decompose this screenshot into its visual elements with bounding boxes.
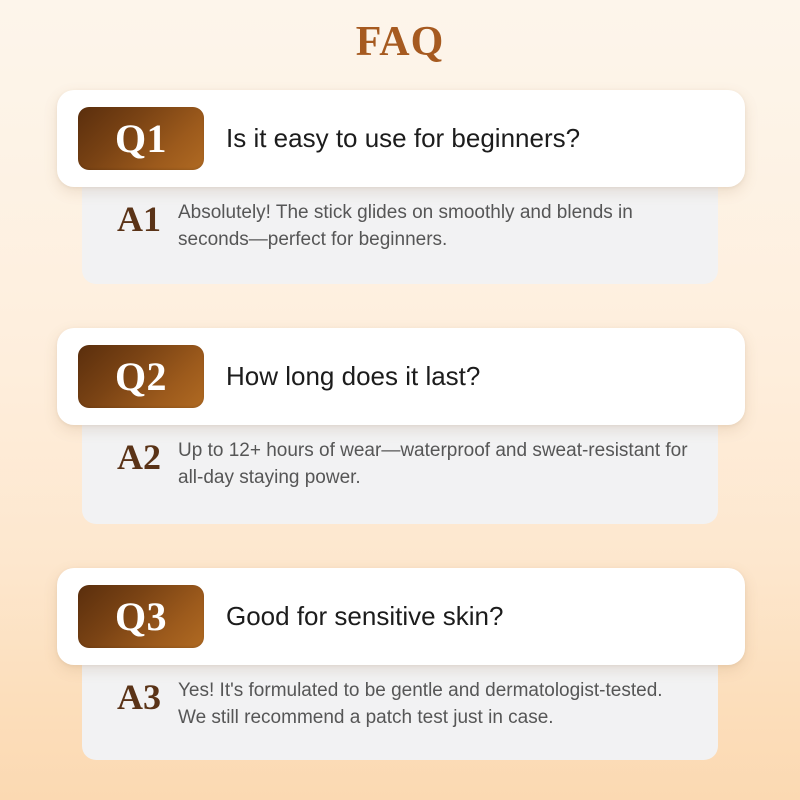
faq-list: Q1 Is it easy to use for beginners? A1 A… xyxy=(0,90,800,760)
page-title: FAQ xyxy=(0,18,800,66)
answer-text: Yes! It's formulated to be gentle and de… xyxy=(178,677,694,732)
question-number-badge: Q3 xyxy=(78,585,204,648)
answer-number-label: A3 xyxy=(100,677,178,715)
question-number-badge: Q2 xyxy=(78,345,204,408)
question-card[interactable]: Q3 Good for sensitive skin? xyxy=(57,568,745,665)
answer-panel: A2 Up to 12+ hours of wear—waterproof an… xyxy=(82,411,718,524)
faq-page: FAQ Q1 Is it easy to use for beginners? … xyxy=(0,0,800,800)
faq-item: Q1 Is it easy to use for beginners? A1 A… xyxy=(0,90,800,284)
faq-item: Q3 Good for sensitive skin? A3 Yes! It's… xyxy=(0,568,800,760)
answer-panel: A3 Yes! It's formulated to be gentle and… xyxy=(82,651,718,760)
answer-text: Absolutely! The stick glides on smoothly… xyxy=(178,199,694,254)
question-number-badge: Q1 xyxy=(78,107,204,170)
question-text: How long does it last? xyxy=(226,361,480,392)
question-card[interactable]: Q2 How long does it last? xyxy=(57,328,745,425)
question-text: Good for sensitive skin? xyxy=(226,601,503,632)
question-card[interactable]: Q1 Is it easy to use for beginners? xyxy=(57,90,745,187)
answer-number-label: A1 xyxy=(100,199,178,237)
answer-number-label: A2 xyxy=(100,437,178,475)
answer-panel: A1 Absolutely! The stick glides on smoot… xyxy=(82,173,718,284)
faq-item: Q2 How long does it last? A2 Up to 12+ h… xyxy=(0,328,800,524)
answer-text: Up to 12+ hours of wear—waterproof and s… xyxy=(178,437,694,492)
question-text: Is it easy to use for beginners? xyxy=(226,123,580,154)
